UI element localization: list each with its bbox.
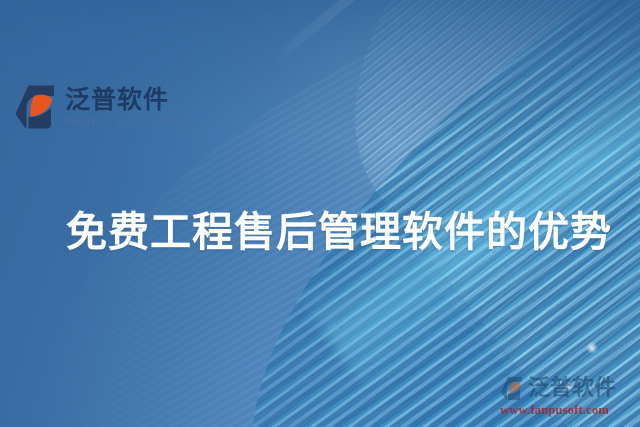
brand-name-en: FANPU SOFTWARE [65,117,191,128]
brand-logo-text: 泛普软件 FANPU SOFTWARE [65,87,191,128]
watermark: 泛普软件 www.fanpusoft.com [500,376,632,418]
watermark-logo-icon [500,376,524,401]
brand-name-cn: 泛普软件 [65,87,191,112]
headline-title: 免费工程售后管理软件的优势 [66,198,612,258]
watermark-brand-name: 泛普软件 [528,378,616,400]
fanpu-hexagon-leaf-logo-icon [14,84,58,130]
brand-logo: 泛普软件 FANPU SOFTWARE [14,84,191,130]
watermark-url: www.fanpusoft.com [500,403,632,418]
banner-image: 泛普软件 FANPU SOFTWARE 免费工程售后管理软件的优势 泛普软件 w… [0,0,640,427]
watermark-brand-row: 泛普软件 [500,376,632,401]
